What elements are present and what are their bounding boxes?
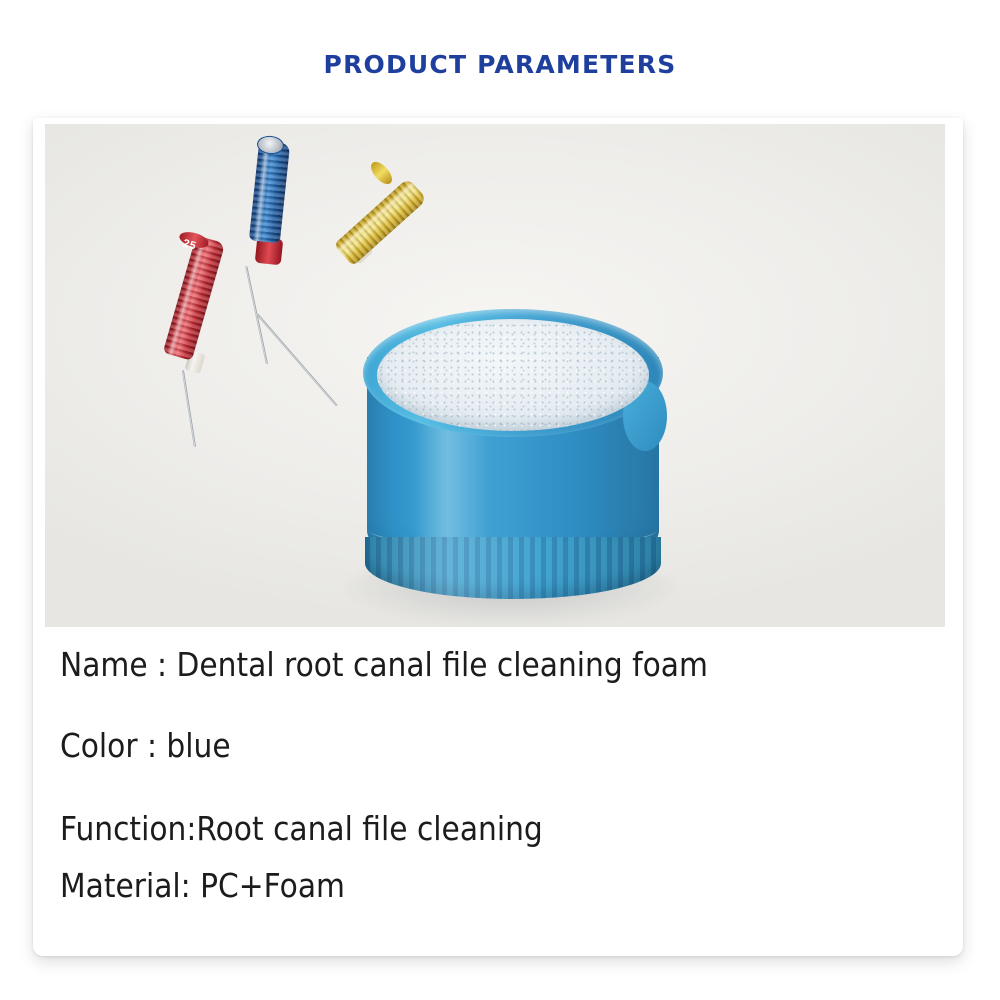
yellow-file-handle-ribs bbox=[334, 178, 428, 266]
spec-function: Function:Root canal file cleaning bbox=[60, 812, 852, 845]
yellow-file-handle bbox=[334, 178, 428, 266]
product-parameters-card: 25 Name : Dental root canal file cleanin… bbox=[33, 118, 963, 956]
yellow-endodontic-file bbox=[300, 152, 460, 412]
blue-file-handle bbox=[249, 141, 290, 244]
spec-list: Name : Dental root canal file cleaning f… bbox=[60, 648, 940, 902]
red-file-handle bbox=[163, 235, 225, 361]
yellow-file-top-cap bbox=[367, 158, 395, 187]
container-ribbed-base bbox=[365, 537, 661, 599]
red-endodontic-file: 25 bbox=[165, 219, 225, 449]
page-title: PRODUCT PARAMETERS bbox=[0, 50, 1000, 79]
spec-color: Color : blue bbox=[60, 729, 852, 762]
blue-endodontic-file bbox=[241, 134, 301, 454]
product-photo: 25 bbox=[45, 124, 945, 627]
spec-material: Material: PC+Foam bbox=[60, 869, 852, 902]
red-file-shaft bbox=[182, 370, 196, 447]
spec-name: Name : Dental root canal file cleaning f… bbox=[60, 648, 852, 681]
